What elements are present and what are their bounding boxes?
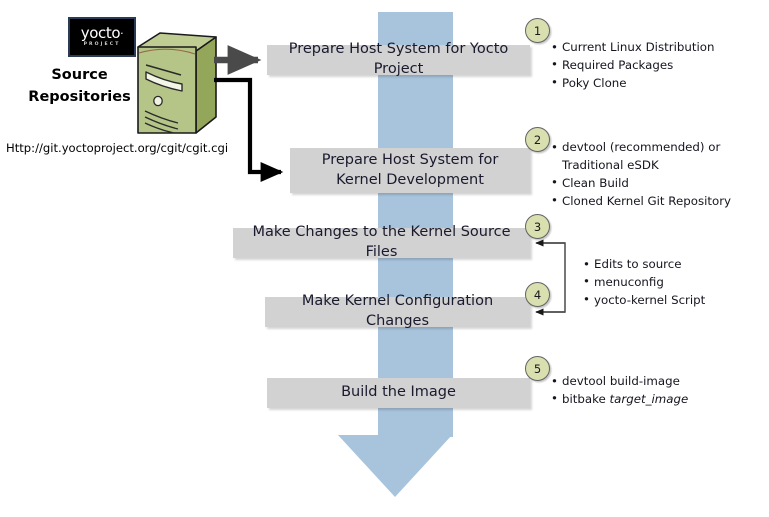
step-badge-1: 1	[525, 18, 550, 43]
process-box-prepare-host-kernel[interactable]: Prepare Host System for Kernel Developme…	[290, 148, 530, 193]
bullet-item: yocto-kernel Script	[583, 292, 763, 310]
diagram-canvas: yocto· PROJECT Source Repositories Http:…	[0, 0, 769, 517]
step-badge-5: 5	[525, 356, 550, 381]
bullet-item: devtool build-image	[551, 373, 766, 391]
bullet-item: Edits to source	[583, 256, 763, 274]
process-box-prepare-host-yocto[interactable]: Prepare Host System for Yocto Project	[267, 45, 530, 75]
yocto-logo-subtext: PROJECT	[84, 43, 121, 48]
process-box-build-image[interactable]: Build the Image	[267, 378, 530, 408]
step-3-4-bullet-list: Edits to sourcemenuconfigyocto-kernel Sc…	[583, 256, 763, 310]
process-box-make-kernel-source-changes[interactable]: Make Changes to the Kernel Source Files	[233, 228, 530, 258]
yocto-logo-wordmark: yocto·	[81, 26, 123, 41]
bullet-item: Poky Clone	[551, 75, 766, 93]
bullet-item: Required Packages	[551, 57, 766, 75]
yocto-logo-dot: ·	[120, 27, 123, 40]
bullet-item: devtool (recommended) or Traditional eSD…	[551, 139, 766, 175]
step-1-bullet-list: Current Linux DistributionRequired Packa…	[551, 39, 766, 93]
workflow-spine-arrow-icon	[338, 435, 452, 497]
step-badge-2: 2	[525, 127, 550, 152]
bullet-item: Cloned Kernel Git Repository	[551, 193, 766, 211]
step-2-bullet-list: devtool (recommended) or Traditional eSD…	[551, 139, 766, 211]
server-tower-icon	[134, 29, 218, 141]
process-box-make-kernel-config-changes[interactable]: Make Kernel Configuration Changes	[265, 297, 530, 327]
yocto-project-logo: yocto· PROJECT	[68, 17, 136, 57]
step-badge-3: 3	[525, 214, 550, 239]
bullet-item: Clean Build	[551, 175, 766, 193]
step-5-bullet-list: devtool build-imagebitbake target_image	[551, 373, 766, 409]
bullet-item: Current Linux Distribution	[551, 39, 766, 57]
yocto-logo-text: yocto	[81, 24, 120, 42]
bullet-item: menuconfig	[583, 274, 763, 292]
bullet-item: bitbake target_image	[551, 391, 766, 409]
source-repositories-label: Source Repositories	[12, 64, 147, 109]
step-badge-4: 4	[525, 282, 550, 307]
bullet-item-emphasis: target_image	[610, 392, 689, 406]
source-repositories-url: Http://git.yoctoproject.org/cgit/cgit.cg…	[6, 141, 228, 155]
